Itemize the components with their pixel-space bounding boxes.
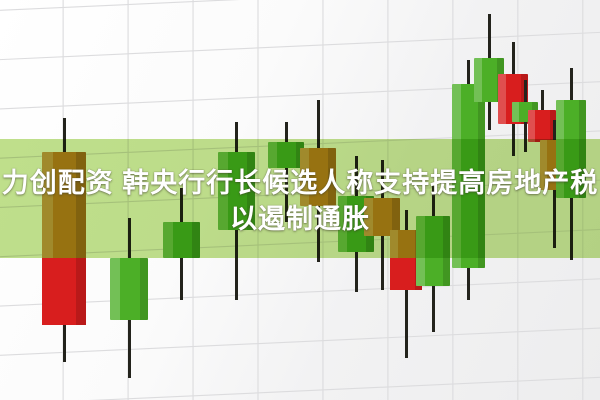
candle-body	[110, 258, 148, 320]
candlestick-chart-banner: 力创配资 韩央行行长候选人称支持提高房地产税 以遏制通胀	[0, 0, 600, 400]
candle-body-lower	[42, 258, 86, 325]
headline-line-1: 力创配资 韩央行行长候选人称支持提高房地产税	[0, 166, 600, 200]
headline-line-2: 以遏制通胀	[0, 202, 600, 236]
